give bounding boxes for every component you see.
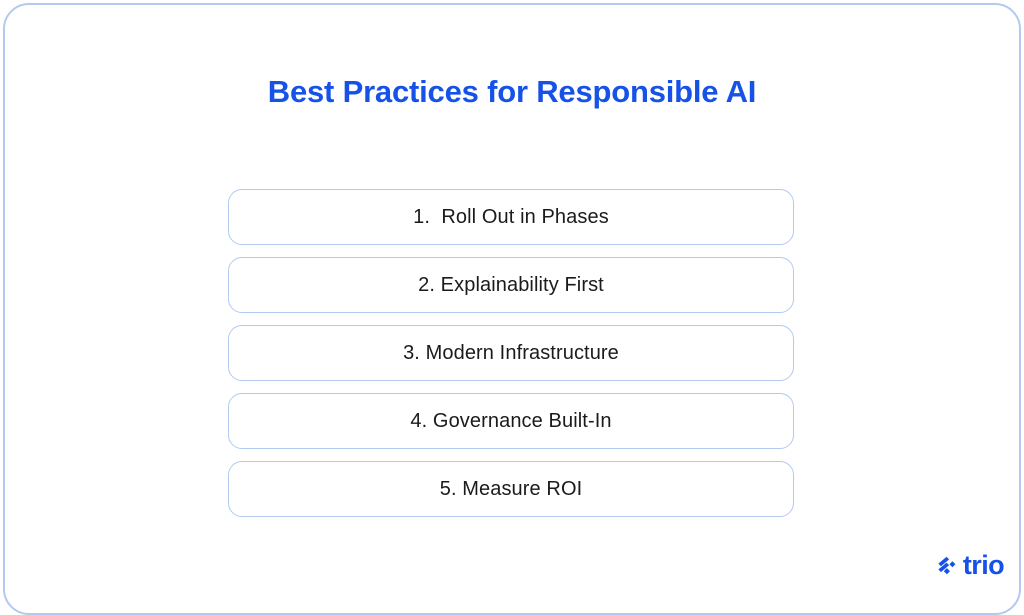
page-title: Best Practices for Responsible AI — [0, 74, 1024, 110]
list-item[interactable]: 2. Explainability First — [228, 257, 794, 313]
list-item[interactable]: 1. Roll Out in Phases — [228, 189, 794, 245]
list-item-label: 5. Measure ROI — [440, 478, 583, 501]
list-item-label: 4. Governance Built-In — [410, 410, 611, 433]
trio-logo: trio — [935, 553, 1004, 580]
list-item[interactable]: 3. Modern Infrastructure — [228, 325, 794, 381]
slide-content: Best Practices for Responsible AI 1. Rol… — [0, 0, 1024, 596]
trio-wordmark: trio — [963, 552, 1004, 579]
list-item-label: 3. Modern Infrastructure — [403, 342, 619, 365]
list-item[interactable]: 5. Measure ROI — [228, 461, 794, 517]
list-item[interactable]: 4. Governance Built-In — [228, 393, 794, 449]
list-item-label: 1. Roll Out in Phases — [413, 206, 609, 229]
list-item-label: 2. Explainability First — [418, 274, 604, 297]
trio-logo-mark-icon — [935, 556, 957, 578]
slide-canvas: Best Practices for Responsible AI 1. Rol… — [0, 0, 1024, 596]
best-practices-list: 1. Roll Out in Phases 2. Explainability … — [228, 189, 794, 517]
